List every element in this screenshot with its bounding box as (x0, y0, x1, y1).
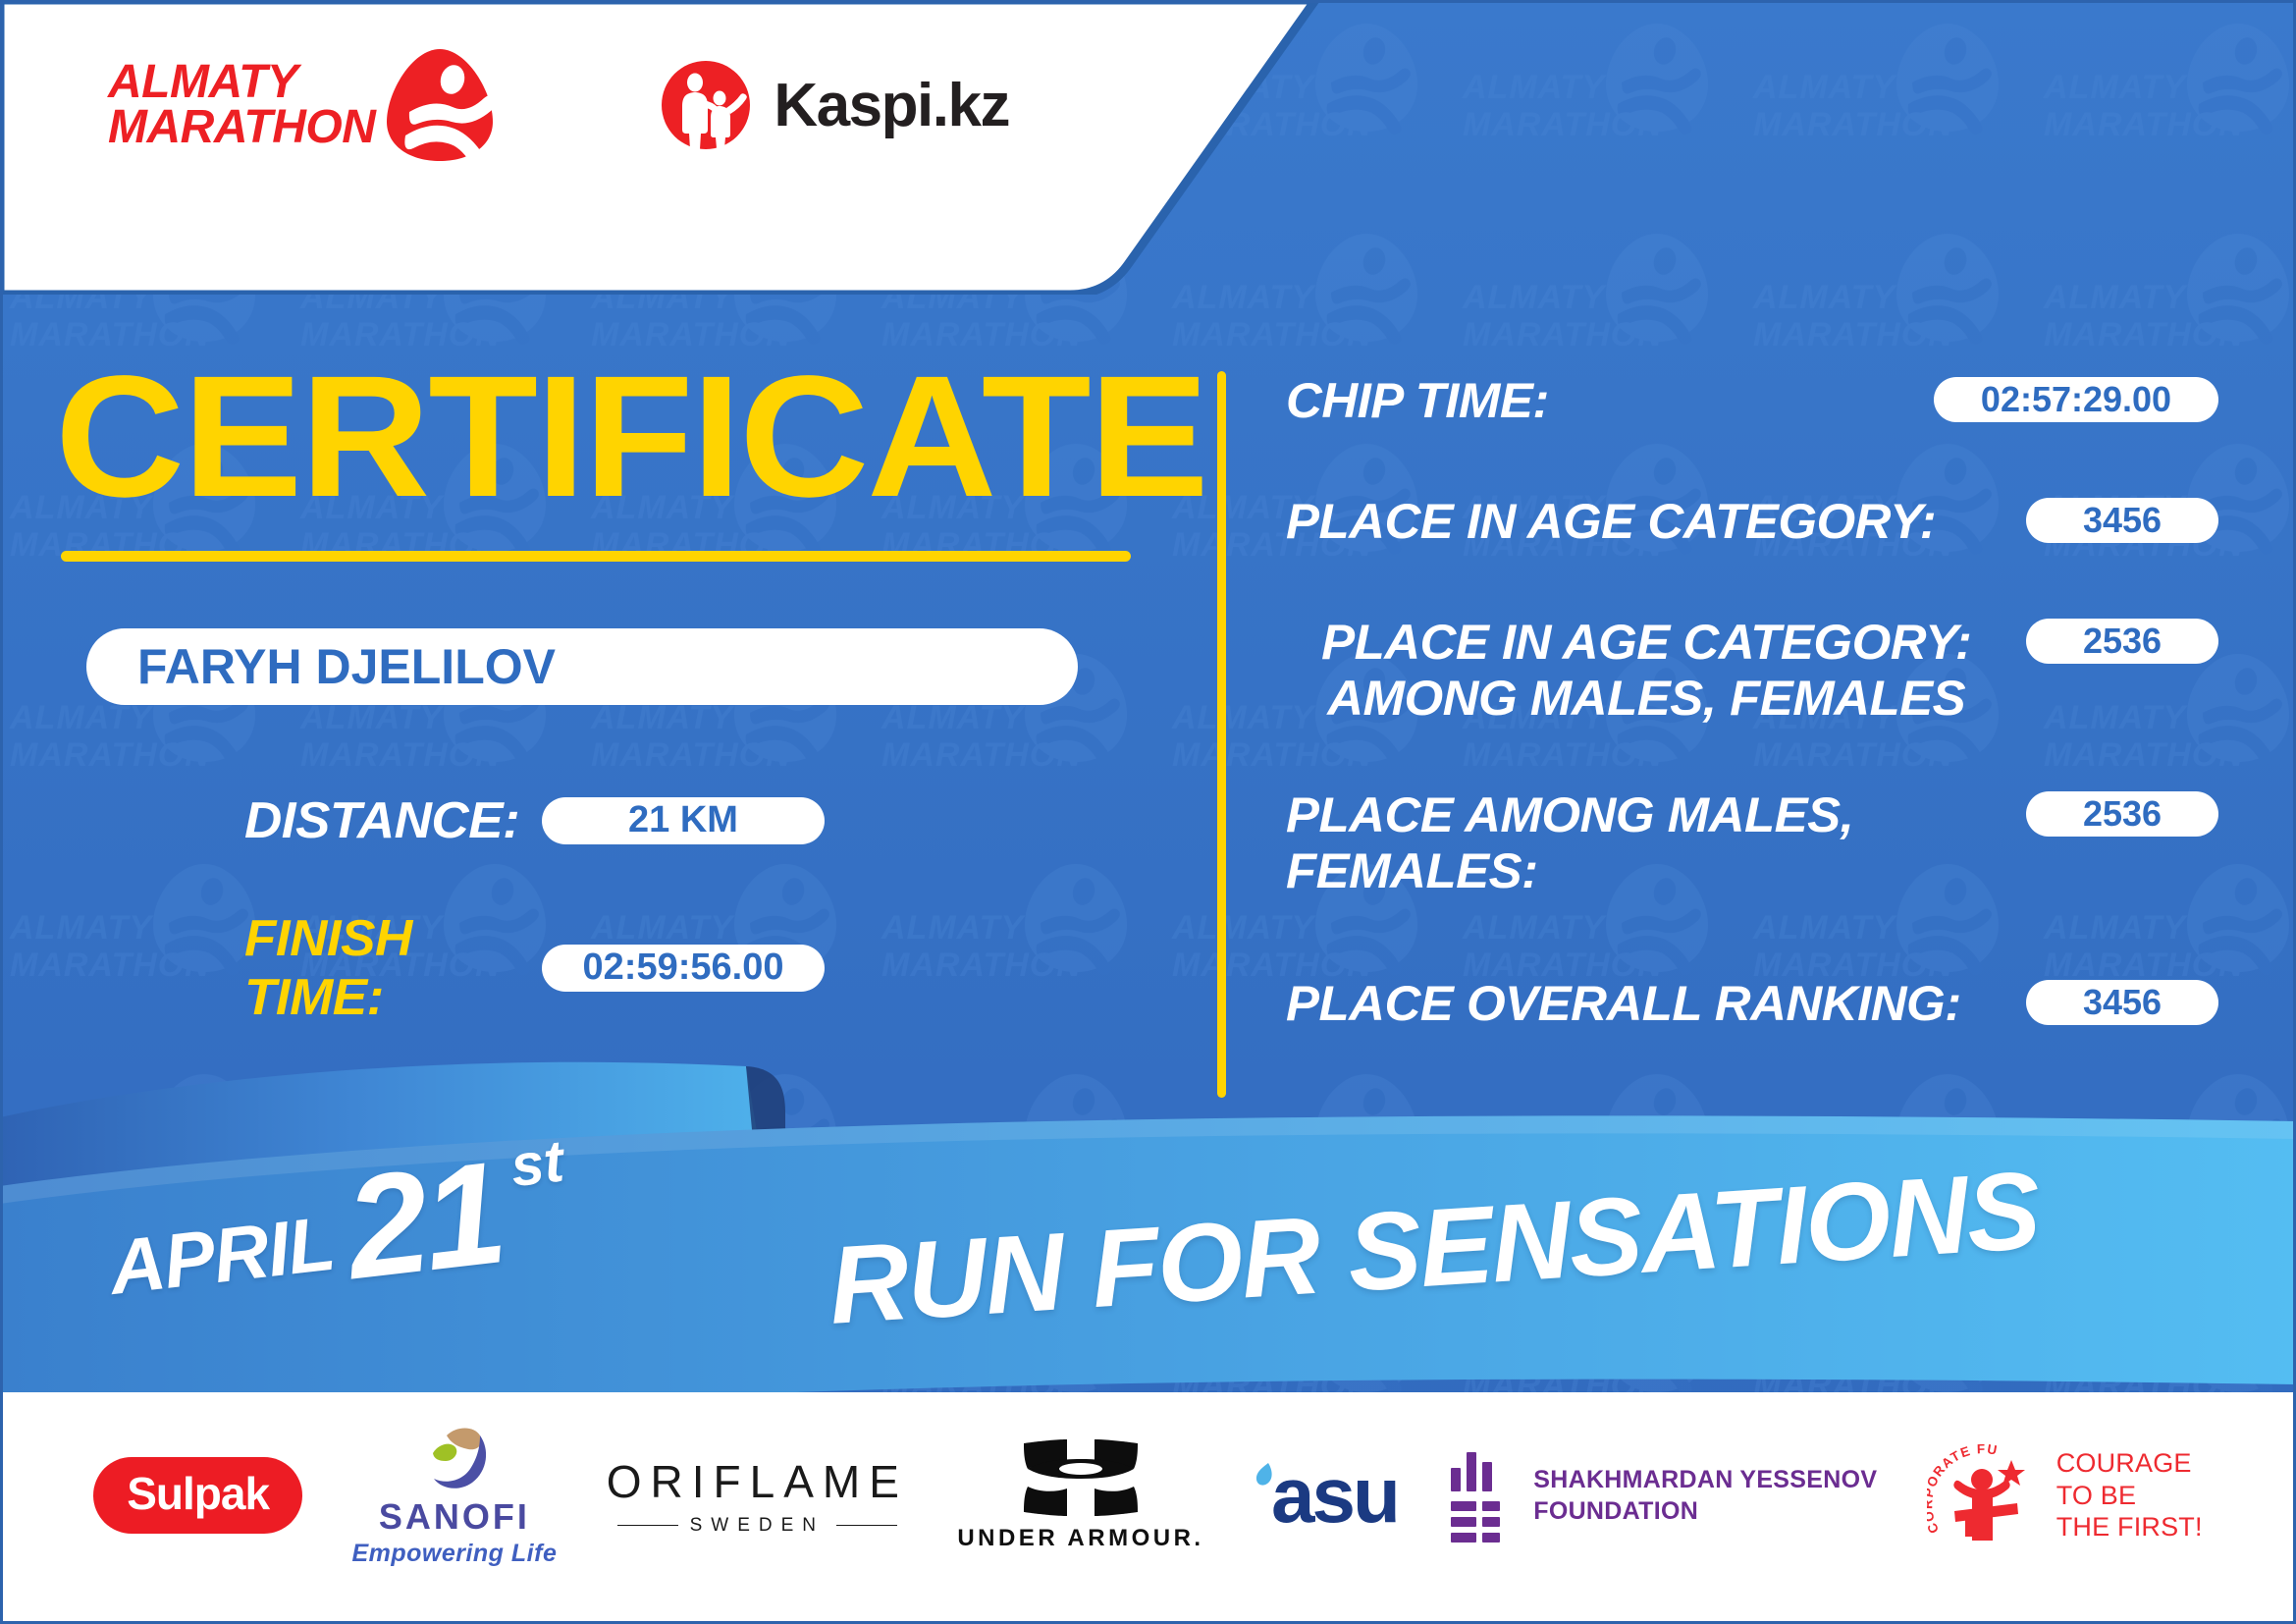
result-row: PLACE AMONG MALES, FEMALES: 2536 (1286, 787, 2218, 899)
result-label: PLACE AMONG MALES, FEMALES: (1286, 787, 1853, 899)
result-row: CHIP TIME: 02:57:29.00 (1286, 373, 2218, 429)
certificate-canvas: ALMATY MARATHON ALMATY MARATHON (0, 0, 2296, 1624)
left-column: CERTIFICATE FARYH DJELILOV DISTANCE: 21 … (55, 358, 1174, 1027)
sanofi-wordmark: SANOFI (379, 1496, 530, 1538)
result-value: 3456 (2026, 980, 2218, 1025)
participant-name-field: FARYH DJELILOV (86, 628, 1078, 705)
sanofi-tagline: Empowering Life (351, 1540, 557, 1568)
sponsor-sanofi: SANOFI Empowering Life (351, 1424, 557, 1568)
courage-runner-icon: CORPORATE FUND (1927, 1438, 2041, 1552)
oriflame-rule-right (836, 1525, 897, 1527)
result-value: 02:57:29.00 (1934, 377, 2218, 422)
sponsor-oriflame: ORIFLAME SWEDEN (607, 1455, 908, 1537)
event-day: 21 (341, 1150, 507, 1291)
result-label: CHIP TIME: (1286, 373, 1549, 429)
sponsor-strip: Sulpak SANOFI Empowering Life ORIFLAME S… (0, 1392, 2296, 1624)
sponsor-asu: asu (1254, 1453, 1398, 1538)
distance-label: DISTANCE: (244, 791, 545, 850)
yessenov-line2: FOUNDATION (1533, 1497, 1698, 1525)
sponsor-corporate-fund: CORPORATE FUND COURAGE TO BE THE FIRST! (1927, 1438, 2203, 1552)
sanofi-swoosh-icon (409, 1424, 500, 1494)
sulpak-wordmark: Sulpak (93, 1457, 302, 1534)
distance-value: 21 KM (542, 797, 825, 844)
result-row: PLACE IN AGE CATEGORY: AMONG MALES, FEMA… (1286, 615, 2218, 727)
oriflame-rule-left (617, 1525, 678, 1527)
finish-time-label: FINISH TIME: (244, 909, 545, 1027)
result-value: 3456 (2026, 498, 2218, 543)
result-label: PLACE OVERALL RANKING: (1286, 976, 1961, 1032)
distance-row: DISTANCE: 21 KM (247, 791, 1174, 850)
result-label: PLACE IN AGE CATEGORY: AMONG MALES, FEMA… (1286, 615, 2006, 727)
page-title: CERTIFICATE (55, 358, 1219, 517)
finish-time-row: FINISH TIME: 02:59:56.00 (247, 909, 1174, 1027)
asu-wordmark: asu (1271, 1456, 1398, 1535)
oriflame-subtitle: SWEDEN (690, 1515, 825, 1537)
finish-time-value: 02:59:56.00 (542, 945, 825, 992)
courage-line2: TO BE (2056, 1481, 2137, 1510)
under-armour-wordmark: UNDER ARMOUR. (957, 1525, 1203, 1552)
oriflame-wordmark: ORIFLAME (607, 1455, 908, 1508)
sponsor-sulpak: Sulpak (93, 1457, 302, 1534)
result-label: PLACE IN AGE CATEGORY: (1286, 494, 1936, 550)
title-underline (61, 551, 1131, 562)
under-armour-logo-icon (1018, 1439, 1144, 1516)
courage-line1: COURAGE (2056, 1448, 2192, 1478)
results-column: CHIP TIME: 02:57:29.00 PLACE IN AGE CATE… (1286, 373, 2218, 1032)
yessenov-line1: SHAKHMARDAN YESSENOV (1533, 1466, 1877, 1493)
result-row: PLACE IN AGE CATEGORY: 3456 (1286, 494, 2218, 550)
sponsor-under-armour: UNDER ARMOUR. (957, 1439, 1203, 1552)
column-divider (1217, 371, 1226, 1098)
courage-line3: THE FIRST! (2056, 1512, 2203, 1542)
sponsor-yessenov-foundation: SHAKHMARDAN YESSENOV FOUNDATION (1447, 1448, 1877, 1543)
result-value: 2536 (2026, 619, 2218, 664)
yessenov-bars-icon (1447, 1448, 1508, 1543)
result-value: 2536 (2026, 791, 2218, 837)
result-row: PLACE OVERALL RANKING: 3456 (1286, 976, 2218, 1032)
